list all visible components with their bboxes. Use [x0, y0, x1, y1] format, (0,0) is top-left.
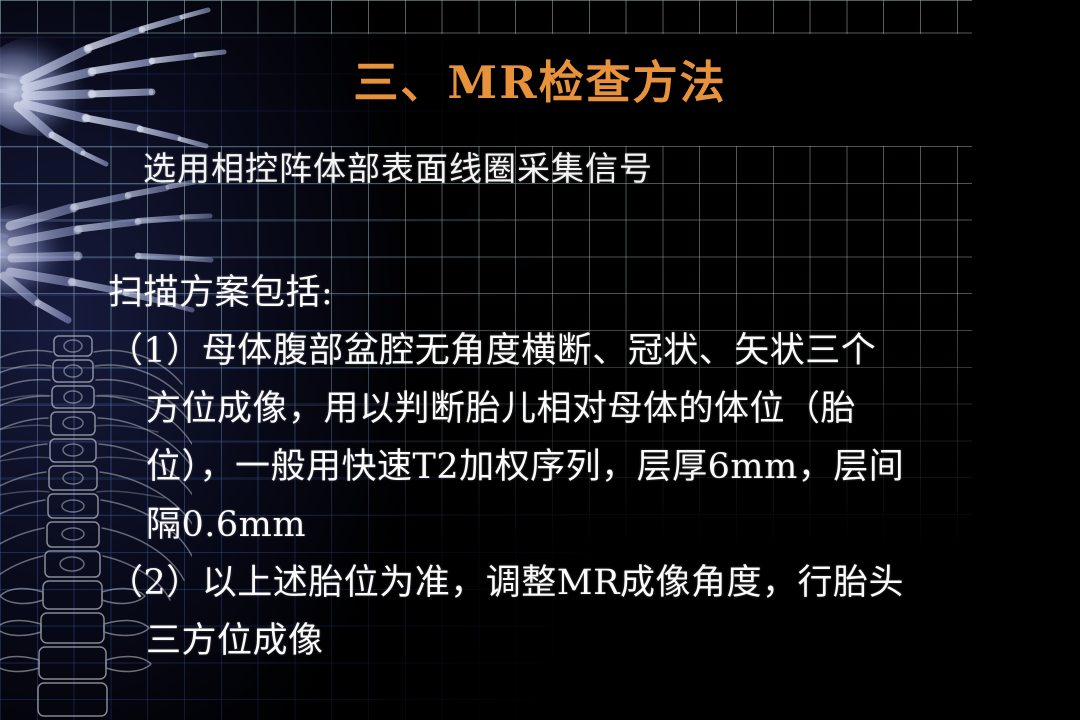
- slide-subtitle: 选用相控阵体部表面线圈采集信号: [143, 142, 653, 190]
- body-text-block: 扫描方案包括: （1）母体腹部盆腔无角度横断、冠状、矢状三个 方位成像，用以判断…: [108, 264, 1038, 670]
- body-line: 三方位成像: [108, 612, 1038, 670]
- body-line: 隔0.6mm: [108, 496, 1038, 554]
- body-line: 扫描方案包括:: [108, 264, 1038, 322]
- body-line: （1）母体腹部盆腔无角度横断、冠状、矢状三个: [108, 322, 1038, 380]
- film-grid-top-band: [0, 0, 972, 34]
- body-line: 位），一般用快速T2加权序列，层厚6mm，层间: [108, 438, 1038, 496]
- slide-canvas: 三、MR检查方法 选用相控阵体部表面线圈采集信号 扫描方案包括: （1）母体腹部…: [0, 0, 1080, 720]
- page-title: 三、MR检查方法: [0, 46, 1080, 111]
- body-line: （2）以上述胎位为准，调整MR成像角度，行胎头: [108, 554, 1038, 612]
- body-line: 方位成像，用以判断胎儿相对母体的体位（胎: [108, 380, 1038, 438]
